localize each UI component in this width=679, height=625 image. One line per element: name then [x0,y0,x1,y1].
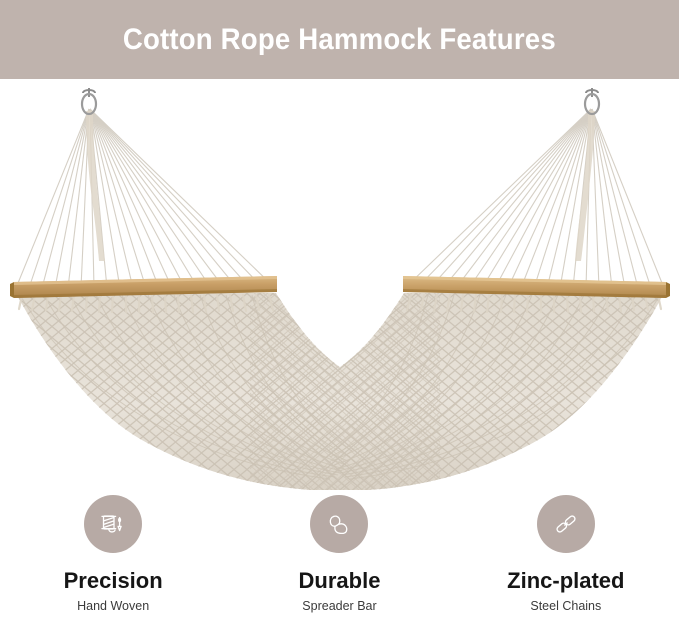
chain-links-icon [551,509,581,539]
hammock-illustration [0,79,679,490]
features-row: Precision Hand Woven Durable Spreader Ba… [0,495,679,625]
page-title: Cotton Rope Hammock Features [123,25,556,55]
feature-subtitle: Hand Woven [77,599,149,613]
suspension-ropes-left [16,109,275,288]
feature-subtitle: Spreader Bar [302,599,376,613]
feature-item-durable: Durable Spreader Bar [234,495,444,613]
feature-subtitle: Steel Chains [530,599,601,613]
thread-spool-needle-icon [98,509,128,539]
feature-icon-badge [537,495,595,553]
feature-item-precision: Precision Hand Woven [8,495,218,613]
product-hero-image [0,79,679,490]
woven-cotton-rope-bed [0,279,679,490]
flexed-bicep-icon [324,509,354,539]
feature-title: Durable [299,569,381,592]
feature-title: Zinc-plated [507,569,624,592]
feature-icon-badge [310,495,368,553]
feature-icon-badge [84,495,142,553]
header-banner: Cotton Rope Hammock Features [0,0,679,79]
feature-title: Precision [64,569,163,592]
feature-item-zinc-plated: Zinc-plated Steel Chains [461,495,671,613]
suspension-ropes-right [405,109,664,288]
